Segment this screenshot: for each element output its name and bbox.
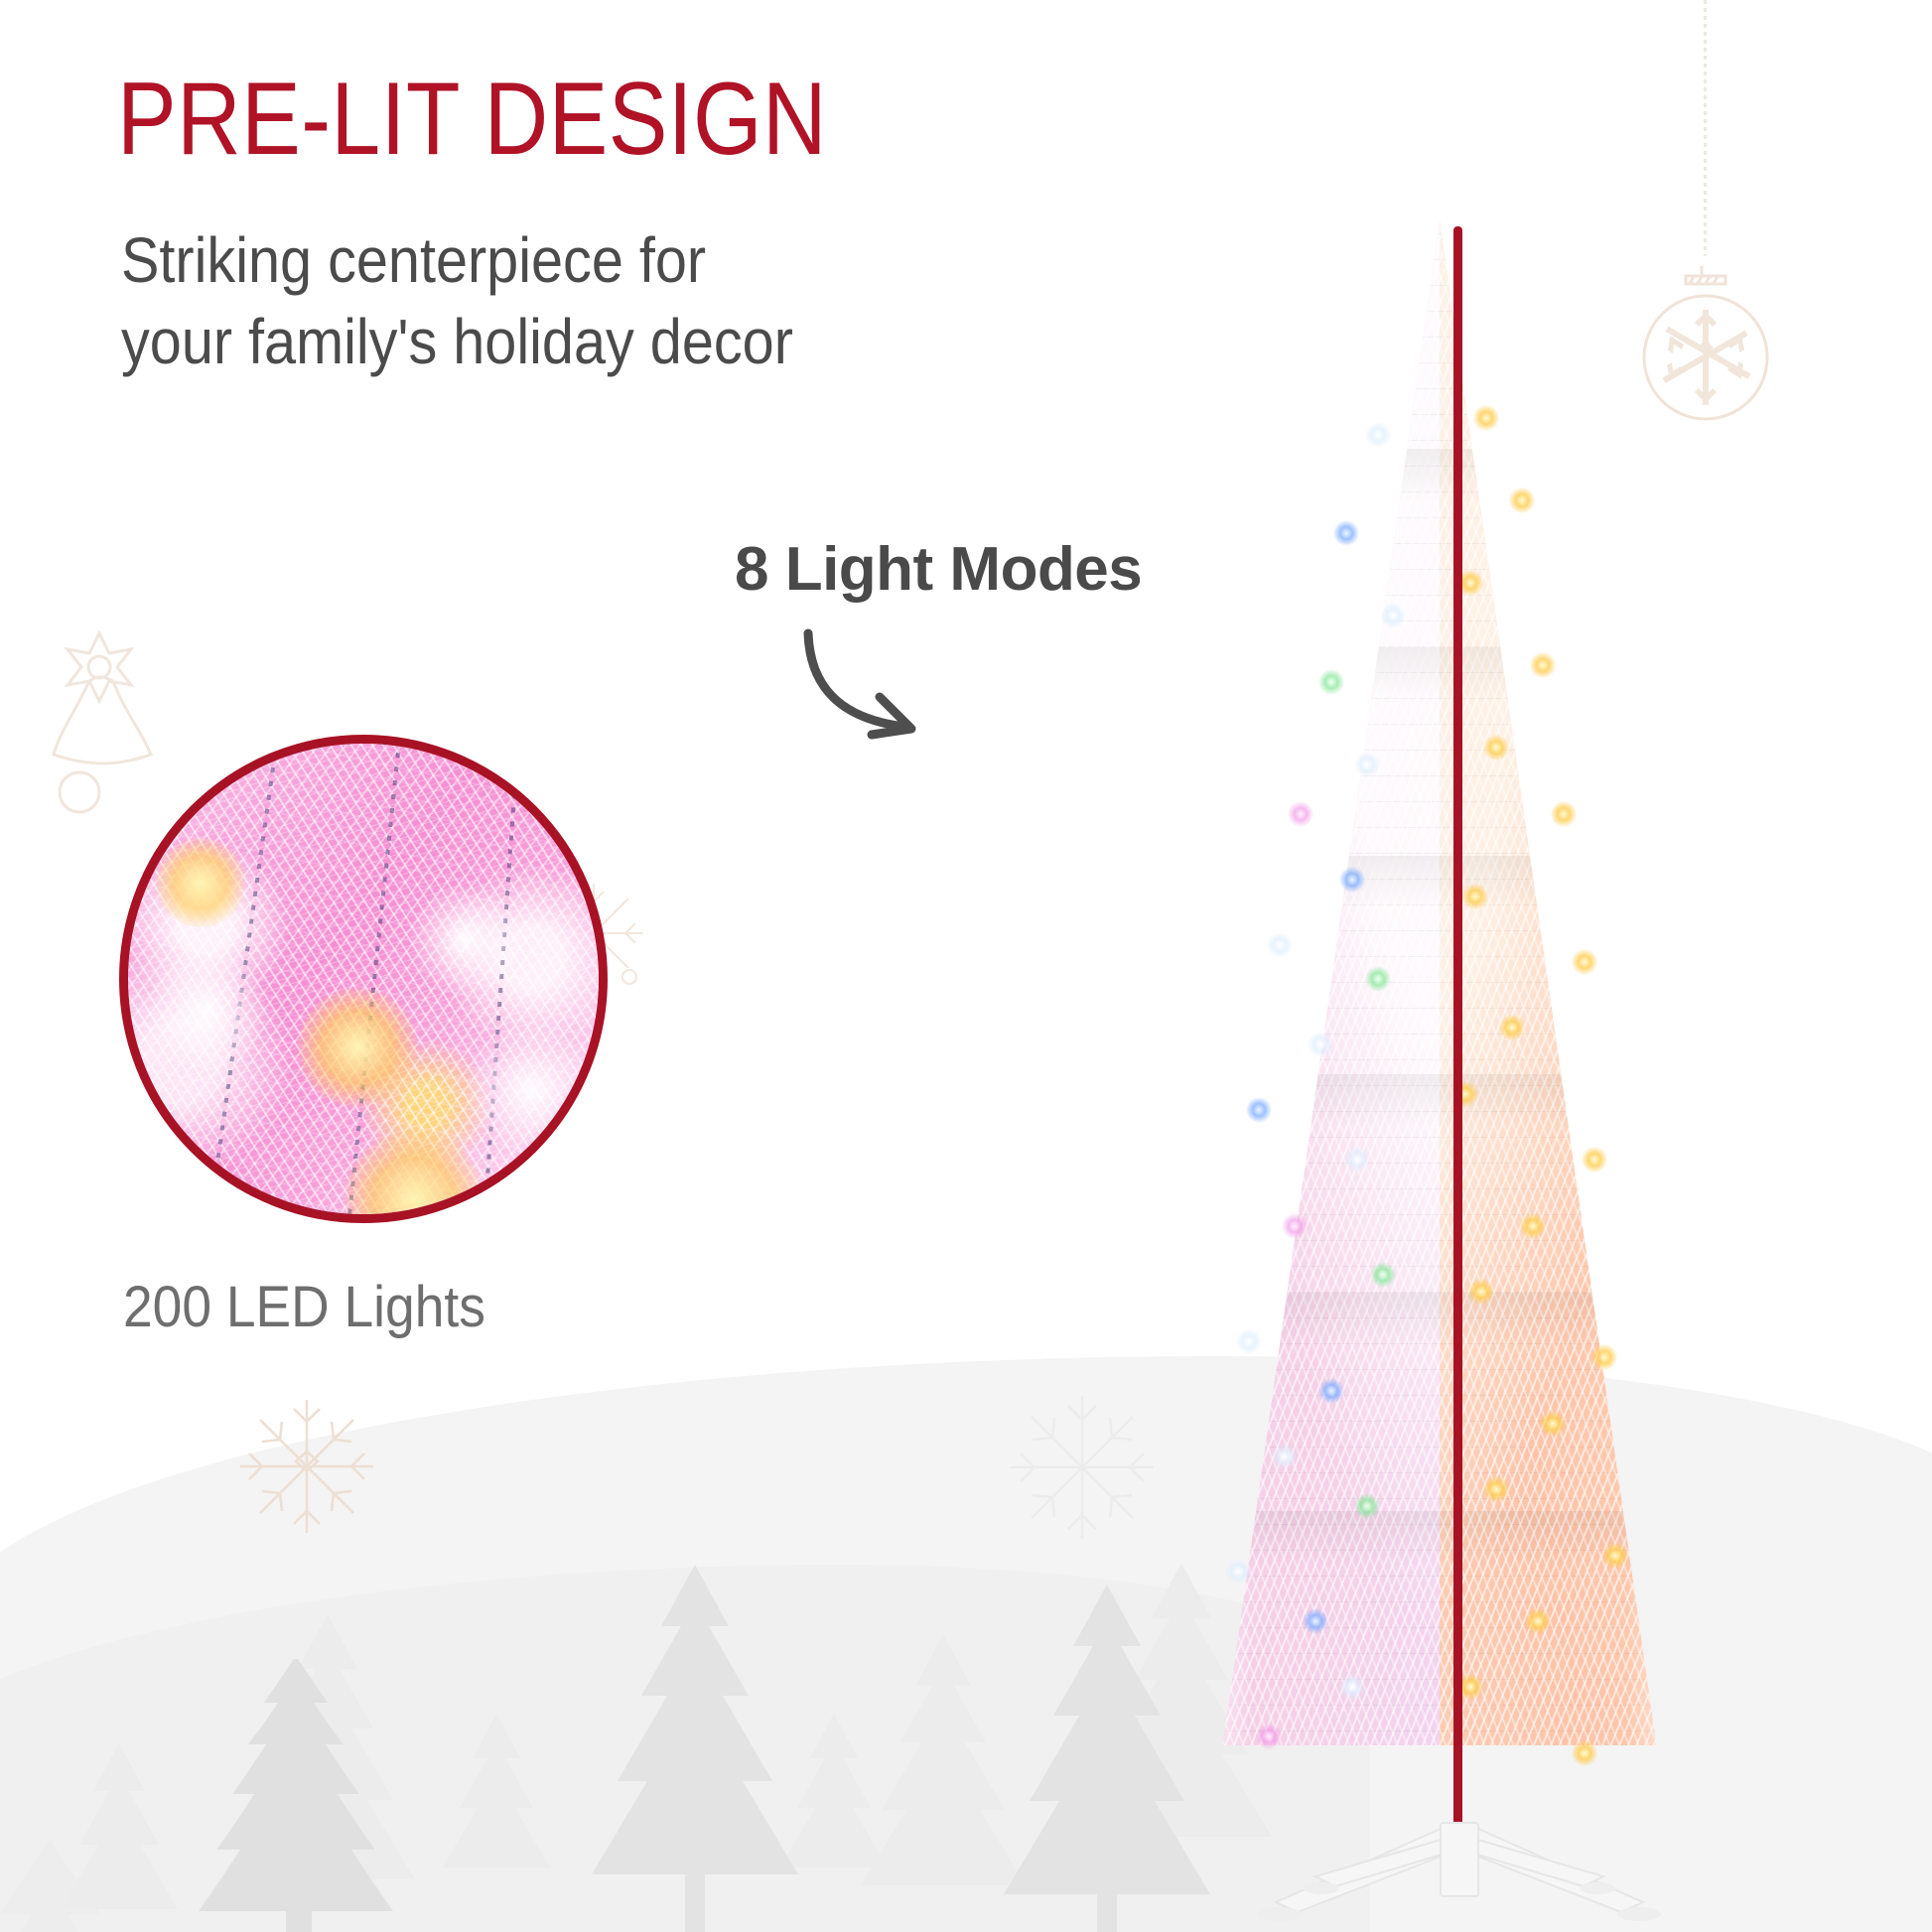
tree-half-warm-white [1440,220,1698,1868]
x-base-tree-stand-icon [1246,1807,1673,1926]
page-subtitle: Striking centerpiece for your family's h… [121,220,793,383]
light-modes-label: 8 Light Modes [735,534,1142,605]
curved-arrow-down-right-icon [794,623,993,753]
tree-foliage [1181,220,1698,1868]
branch-texture [1440,220,1698,1809]
led-glow [410,885,519,994]
led-glow-warm [298,988,417,1107]
christmas-tree-product [1181,220,1698,1868]
split-comparison-divider [1453,226,1462,1866]
led-glow-warm [156,838,245,927]
led-closeup-magnifier [119,735,608,1223]
magnifier-photo [128,744,599,1214]
led-count-caption: 200 LED Lights [123,1274,485,1340]
snowflake-icon [232,1392,381,1541]
page-title: PRE-LIT DESIGN [117,68,827,171]
pine-forest-silhouette [0,1316,1291,1932]
led-glow [467,1026,596,1155]
branch-texture [1181,220,1440,1809]
led-glow [147,951,266,1070]
snowflake-icon [1003,1388,1162,1547]
tree-cone-warm [1440,220,1698,1809]
tree-half-cool-multicolor [1181,220,1440,1868]
ornament-hanging-string [1704,0,1707,256]
tree-cone-cool [1181,220,1440,1809]
product-feature-banner: PRE-LIT DESIGN Striking centerpiece for … [0,0,1932,1932]
snow-ground-shape-back [0,1565,1370,1932]
